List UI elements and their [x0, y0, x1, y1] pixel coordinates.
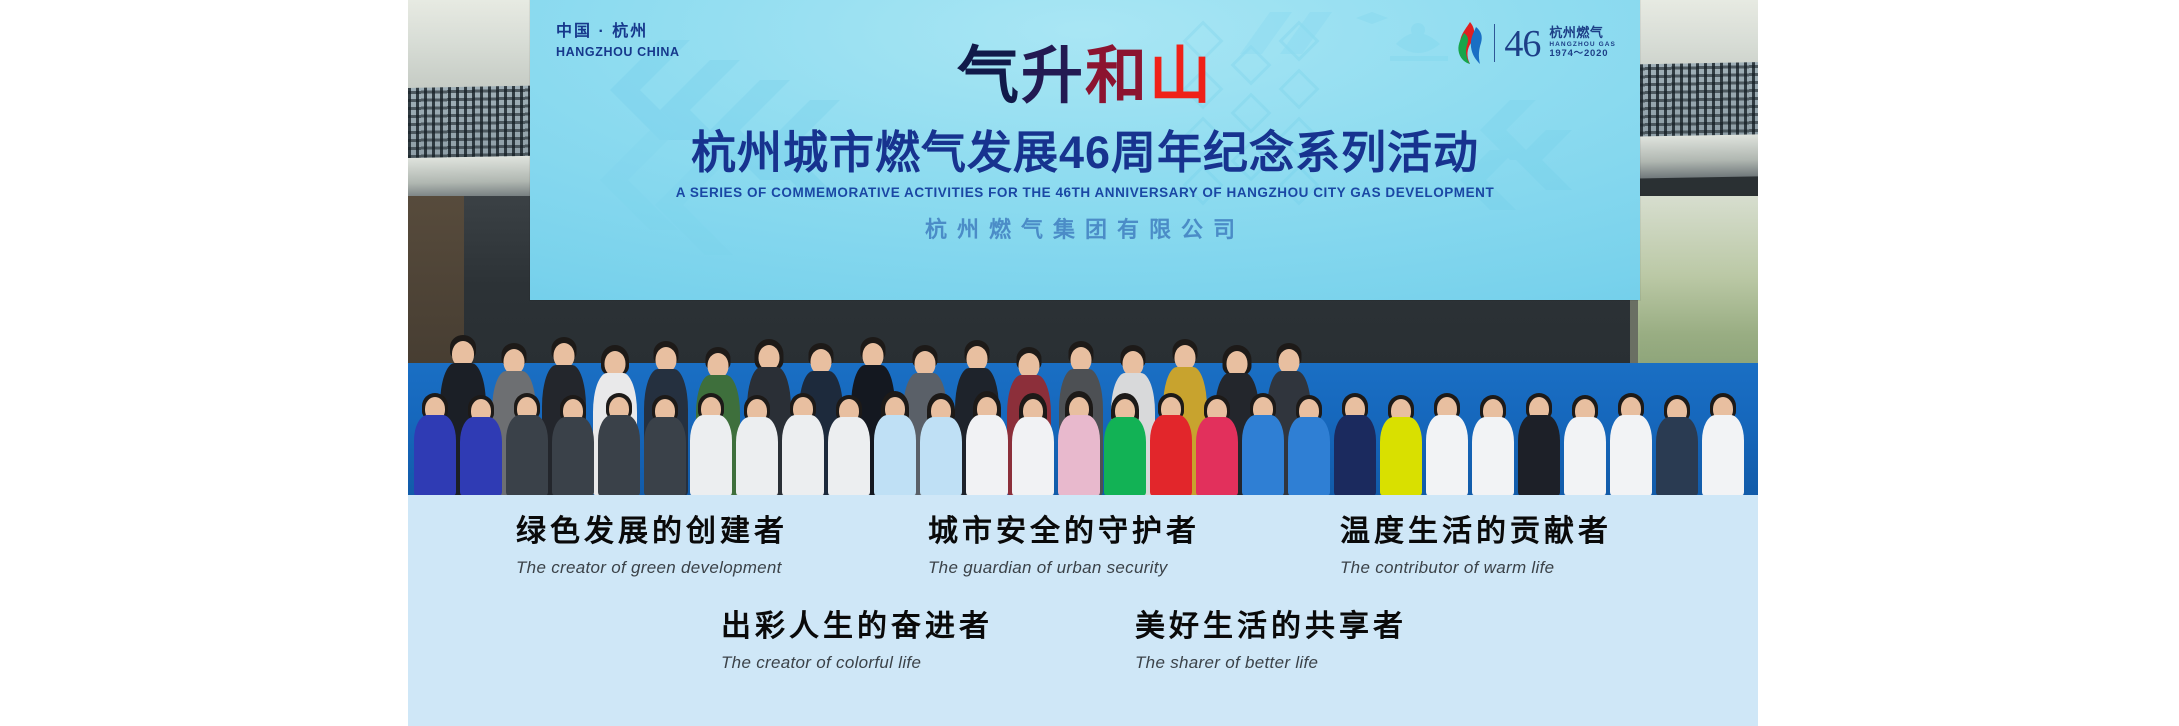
caption-en: The contributor of warm life — [1340, 557, 1650, 579]
caption-row-1: 绿色发展的创建者 The creator of green developmen… — [408, 513, 1758, 579]
person — [1702, 391, 1744, 495]
caption-cn: 温度生活的贡献者 — [1340, 513, 1650, 551]
person — [1104, 393, 1146, 495]
page-root: 中国 · 杭州 HANGZHOU CHINA 46 杭州燃气 HANGZHOU … — [0, 0, 2179, 726]
person — [1334, 391, 1376, 495]
caption-en: The sharer of better life — [1135, 652, 1445, 674]
caption-cn: 美好生活的共享者 — [1135, 608, 1445, 646]
person — [690, 391, 732, 495]
person — [1012, 393, 1054, 495]
person — [414, 391, 456, 495]
person — [506, 391, 548, 495]
caption-cn: 城市安全的守护者 — [928, 513, 1238, 551]
person — [552, 393, 594, 495]
person — [1242, 391, 1284, 495]
crowd-of-attendees — [408, 0, 1758, 495]
caption-en: The creator of colorful life — [721, 652, 1031, 674]
article-image-block: 中国 · 杭州 HANGZHOU CHINA 46 杭州燃气 HANGZHOU … — [408, 0, 1758, 726]
person — [874, 391, 916, 495]
person — [644, 393, 686, 495]
person — [1564, 393, 1606, 495]
person — [1426, 391, 1468, 495]
caption-item: 美好生活的共享者 The sharer of better life — [1135, 608, 1445, 674]
person — [782, 391, 824, 495]
caption-row-2: 出彩人生的奋进者 The creator of colorful life 美好… — [408, 608, 1758, 674]
person — [920, 393, 962, 495]
person — [1058, 391, 1100, 495]
person — [736, 393, 778, 495]
caption-cn: 出彩人生的奋进者 — [721, 608, 1031, 646]
caption-en: The creator of green development — [516, 557, 826, 579]
person — [828, 393, 870, 495]
person — [1380, 393, 1422, 495]
person — [1150, 391, 1192, 495]
caption-item: 绿色发展的创建者 The creator of green developmen… — [516, 513, 826, 579]
caption-item: 出彩人生的奋进者 The creator of colorful life — [721, 608, 1031, 674]
person — [1610, 391, 1652, 495]
caption-panel: 绿色发展的创建者 The creator of green developmen… — [408, 495, 1758, 726]
caption-item: 温度生活的贡献者 The contributor of warm life — [1340, 513, 1650, 579]
caption-item: 城市安全的守护者 The guardian of urban security — [928, 513, 1238, 579]
caption-en: The guardian of urban security — [928, 557, 1238, 579]
person — [598, 391, 640, 495]
person — [1288, 393, 1330, 495]
person — [460, 393, 502, 495]
person — [1656, 393, 1698, 495]
caption-cn: 绿色发展的创建者 — [516, 513, 826, 551]
person — [966, 391, 1008, 495]
person — [1472, 393, 1514, 495]
person — [1518, 391, 1560, 495]
group-photo: 中国 · 杭州 HANGZHOU CHINA 46 杭州燃气 HANGZHOU … — [408, 0, 1758, 495]
person — [1196, 393, 1238, 495]
